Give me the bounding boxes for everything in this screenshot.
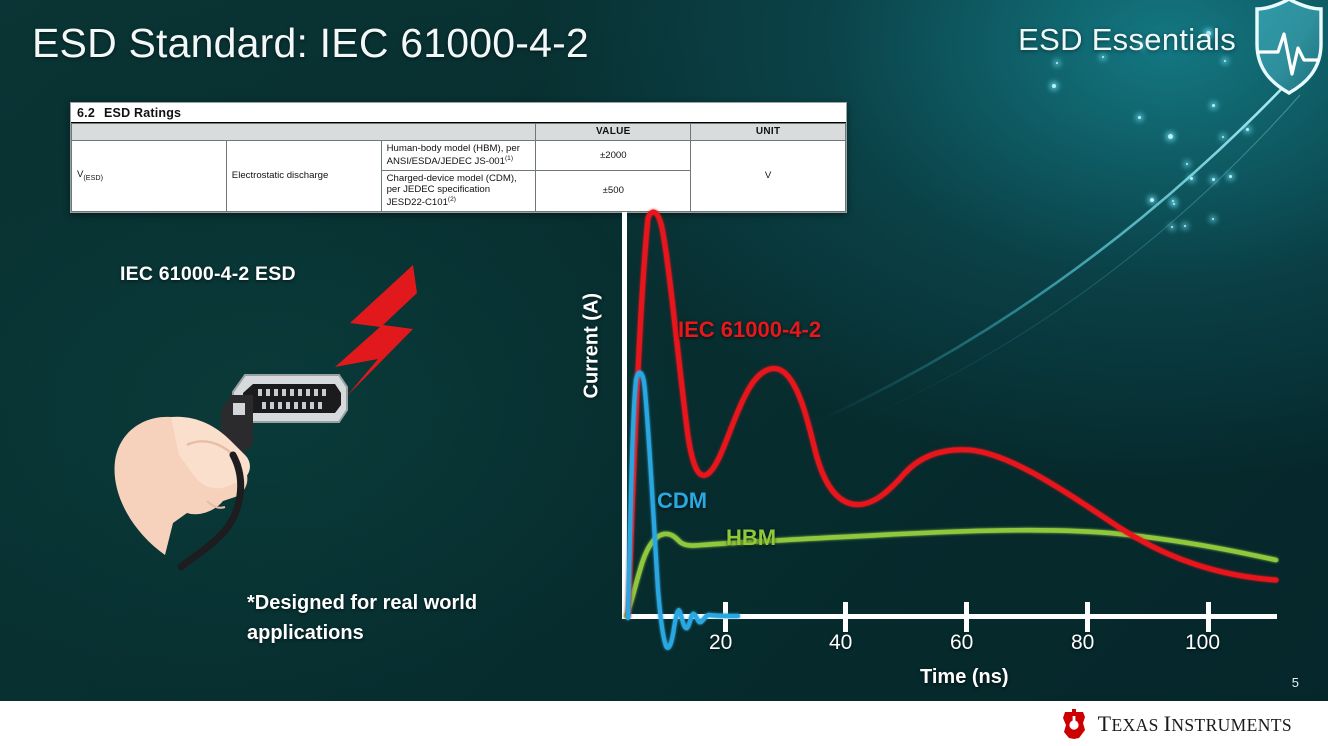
sparkle-dot (1190, 177, 1193, 180)
shield-pulse-icon (1246, 0, 1328, 98)
x-tick-60: 60 (950, 631, 973, 655)
header-blank-cell (72, 124, 536, 141)
page-title: ESD Standard: IEC 61000-4-2 (32, 20, 589, 67)
sparkle-dot (1056, 62, 1058, 64)
x-tick-40: 40 (829, 631, 852, 655)
sparkle-dot (1222, 136, 1224, 138)
sparkle-dot (1229, 175, 1232, 178)
sparkle-dot (1138, 116, 1141, 119)
ti-word-exas: EXAS (1112, 715, 1164, 735)
sparkle-dot (1186, 163, 1188, 165)
cell-description-cdm: Charged-device model (CDM), per JEDEC sp… (381, 170, 536, 211)
cell-symbol: V(ESD) (72, 141, 227, 212)
header-unit: UNIT (691, 124, 846, 141)
section-title: ESD Ratings (104, 106, 181, 120)
sparkle-dot (1052, 84, 1056, 88)
slide-number: 5 (1292, 675, 1299, 690)
ti-logo: TEXAS INSTRUMENTS (1059, 708, 1292, 740)
brand-label: ESD Essentials (1018, 22, 1236, 58)
hdmi-connector-icon (221, 375, 347, 461)
ti-word-nstruments: NSTRUMENTS (1171, 715, 1292, 735)
ti-wordmark: TEXAS INSTRUMENTS (1098, 711, 1292, 737)
table-header-row: VALUE UNIT (72, 124, 846, 141)
sparkle-dot (1168, 134, 1173, 139)
ti-texas-logo-icon (1059, 708, 1089, 740)
series-label-iec: IEC 61000-4-2 (678, 317, 821, 343)
chart-axes (622, 212, 1277, 632)
series-label-cdm: CDM (657, 488, 707, 514)
footnote-1: (1) (505, 155, 513, 162)
esd-ratings-table: 6.2ESD Ratings VALUE UNIT V(ESD) Electro… (70, 102, 847, 213)
x-tick-20: 20 (709, 631, 732, 655)
header-value: VALUE (536, 124, 691, 141)
sparkle-dot (1212, 178, 1215, 181)
hand-connector-illustration (95, 255, 435, 575)
note-text: *Designed for real world applications (247, 588, 547, 648)
y-axis-label: Current (A) (581, 369, 604, 399)
series-label-hbm: HBM (726, 525, 776, 551)
cell-value-hbm: ±2000 (536, 141, 691, 171)
sparkle-dot (1212, 104, 1215, 107)
cell-description-hbm: Human-body model (HBM), per ANSI/ESDA/JE… (381, 141, 536, 171)
x-tick-80: 80 (1071, 631, 1094, 655)
sparkle-dot (1246, 128, 1249, 131)
description-hbm-text: Human-body model (HBM), per ANSI/ESDA/JE… (387, 143, 520, 167)
footer-bar: TEXAS INSTRUMENTS (0, 701, 1328, 746)
ti-word-t: T (1098, 711, 1112, 736)
esd-waveform-chart (560, 198, 1305, 698)
series-iec-curve (628, 212, 1276, 616)
table-row: V(ESD) Electrostatic discharge Human-bod… (72, 141, 846, 171)
x-axis-label: Time (ns) (920, 666, 1009, 689)
section-number: 6.2 (77, 106, 104, 120)
cell-parameter: Electrostatic discharge (226, 141, 381, 212)
footnote-2: (2) (448, 196, 456, 203)
slide-canvas: ESD Standard: IEC 61000-4-2 ESD Essentia… (0, 0, 1328, 746)
table-section-title: 6.2ESD Ratings (71, 103, 846, 123)
x-tick-100: 100 (1185, 631, 1220, 655)
symbol-subscript: (ESD) (83, 173, 103, 182)
sparkle-dot (1224, 60, 1226, 62)
